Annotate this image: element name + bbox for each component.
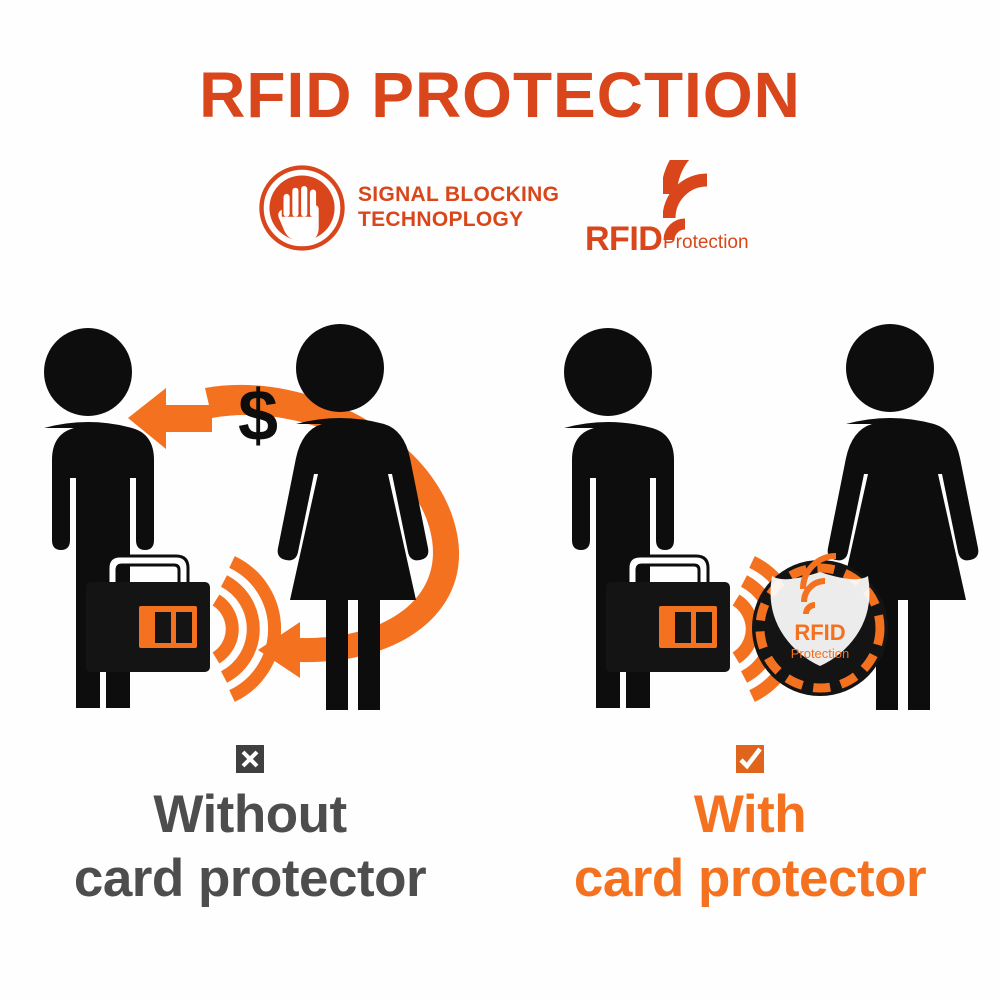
caption-with-line1: With — [500, 787, 1000, 843]
rfid-badge-subword: Protection — [663, 232, 749, 254]
check-mark-icon — [736, 745, 764, 773]
rfid-signal-waves — [216, 562, 275, 696]
rfid-badge-word: RFID — [585, 220, 662, 259]
panel-without-protector: $ — [0, 310, 520, 720]
caption-with-line2: card protector — [500, 849, 1000, 908]
caption-without-line1: Without — [0, 787, 500, 843]
caption-with: With card protector — [500, 745, 1000, 908]
money-symbol: $ — [238, 376, 278, 456]
comparison-scene: $ — [0, 310, 1000, 720]
signal-blocking-badge: SIGNAL BLOCKING TECHNOPLOGY — [258, 164, 559, 252]
signal-blocking-line2: TECHNOPLOGY — [358, 208, 559, 233]
with-protector-illustration: RFID Protection — [520, 310, 1000, 720]
protector-disc-subword: Protection — [791, 646, 850, 661]
page-title: RFID PROTECTION — [0, 58, 1000, 132]
badge-row: SIGNAL BLOCKING TECHNOPLOGY RFID Protect… — [0, 160, 1000, 275]
protector-disc-word: RFID — [794, 620, 845, 645]
caption-without-line2: card protector — [0, 849, 500, 908]
stop-hand-icon — [258, 164, 346, 252]
caption-without: Without card protector — [0, 745, 500, 908]
rfid-protection-badge: RFID Protection — [585, 160, 775, 265]
infographic-page: RFID PROTECTION SIGNAL BLOCKING TECHNOPL… — [0, 0, 1000, 1000]
signal-blocking-line1: SIGNAL BLOCKING — [358, 183, 559, 208]
signal-blocking-text: SIGNAL BLOCKING TECHNOPLOGY — [358, 183, 559, 233]
panel-with-protector: RFID Protection — [520, 310, 1000, 720]
captions-row: Without card protector With card protect… — [0, 745, 1000, 945]
x-mark-icon — [236, 745, 264, 773]
rfid-protector-disc: RFID Protection — [752, 556, 888, 696]
without-protector-illustration: $ — [0, 310, 520, 720]
